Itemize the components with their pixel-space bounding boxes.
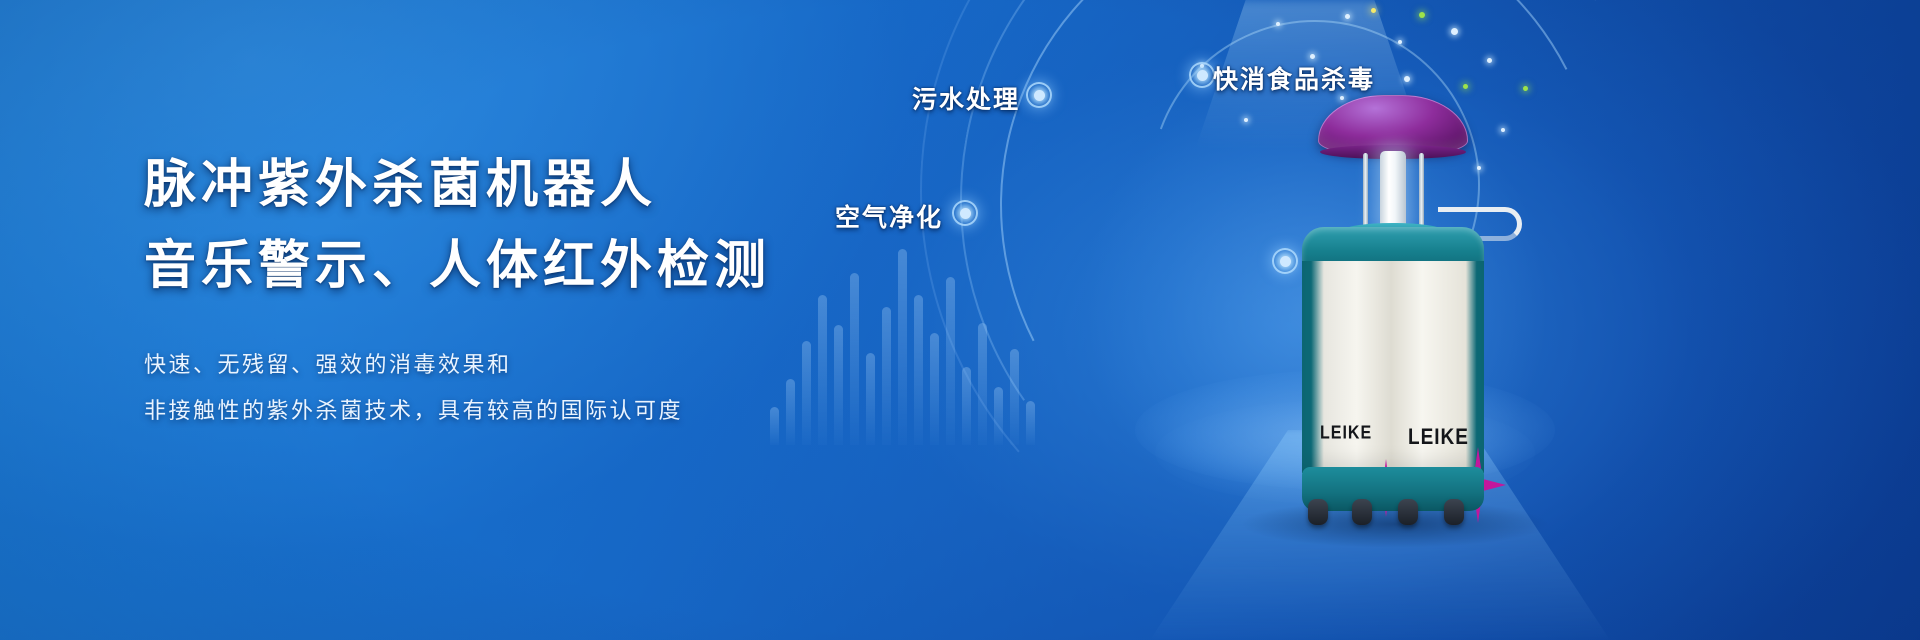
callout-air-purification: 空气净化 xyxy=(835,198,943,234)
callout-node-fmcg-food xyxy=(1189,62,1215,88)
particle-dot xyxy=(1371,8,1376,13)
headline-line-1: 脉冲紫外杀菌机器人 xyxy=(144,152,771,219)
particle-dot xyxy=(1523,86,1528,91)
callout-fmcg-food-sterilization: 快消食品杀毒 xyxy=(1213,60,1375,96)
particle-dot xyxy=(1419,12,1425,18)
particle-dot xyxy=(1463,84,1468,89)
particle-dot xyxy=(1398,40,1402,44)
headline-block: 脉冲紫外杀菌机器人 音乐警示、人体红外检测 快速、无残留、强效的消毒效果和 非接… xyxy=(144,152,771,435)
callout-node-wastewater xyxy=(1026,82,1052,108)
subtext-line-2: 非接触性的紫外杀菌技术，具有较高的国际认可度 xyxy=(144,389,771,435)
particle-dot xyxy=(1404,76,1410,82)
particle-dot xyxy=(1276,22,1280,26)
device-brand-label-left: LEIKE xyxy=(1320,424,1372,445)
device-wheel xyxy=(1352,499,1372,525)
particle-dot xyxy=(1244,118,1248,122)
device-wheel xyxy=(1444,499,1464,525)
device-wheel xyxy=(1398,499,1418,525)
device-lamp-rod-left xyxy=(1363,153,1368,227)
hero-banner: 污水处理 快消食品杀毒 空气净化 医疗器械消毒 脉冲紫外杀菌机器人 音乐警示、人… xyxy=(0,0,1920,640)
headline-line-2: 音乐警示、人体红外检测 xyxy=(144,233,771,300)
device-lamp-rod-right xyxy=(1419,153,1424,227)
particle-dot xyxy=(1451,28,1458,35)
subtext-line-1: 快速、无残留、强效的消毒效果和 xyxy=(144,343,771,389)
particle-dot xyxy=(1345,14,1350,19)
uv-robot-device: LEIKE LEIKE xyxy=(1262,95,1522,515)
subtext-block: 快速、无残留、强效的消毒效果和 非接触性的紫外杀菌技术，具有较高的国际认可度 xyxy=(144,343,771,435)
device-uv-lamp-tube xyxy=(1380,151,1406,229)
audio-waveform-graphic xyxy=(770,225,1035,445)
particle-dot xyxy=(1310,54,1315,59)
particle-dot xyxy=(1487,58,1492,63)
device-brand-label-right: LEIKE xyxy=(1408,425,1469,450)
callout-wastewater-treatment: 污水处理 xyxy=(912,80,1020,116)
callout-node-air-purification xyxy=(952,200,978,226)
device-wheel xyxy=(1308,499,1328,525)
